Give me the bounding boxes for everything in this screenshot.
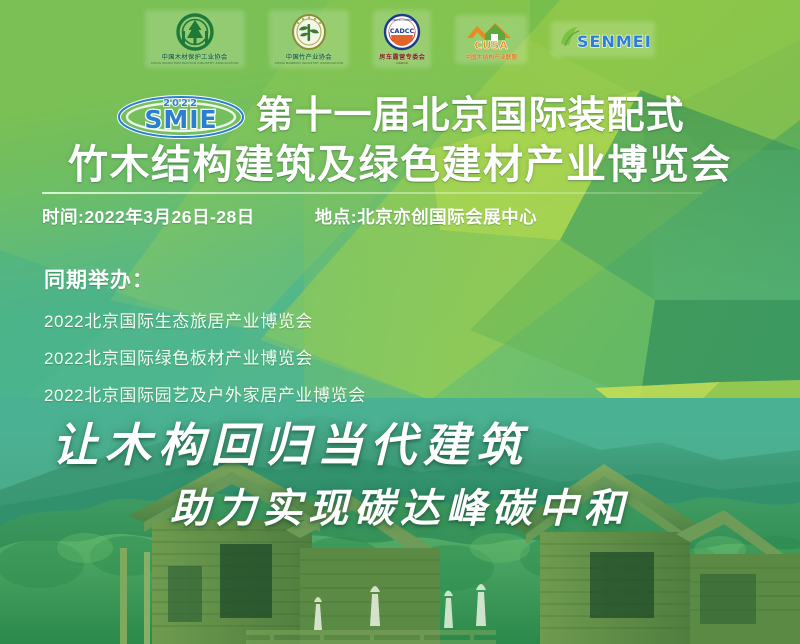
- logo-label-cn: 中国竹产业协会: [286, 52, 332, 61]
- concurrent-event-item: 2022北京国际园艺及户外家居产业博览会: [44, 381, 366, 406]
- exhibition-poster: 中国木材保护工业协会 CHINA WOOD PROTECTION INDUSTR…: [0, 0, 800, 644]
- event-venue: 地点:北京亦创国际会展中心: [315, 204, 537, 229]
- svg-text:SMIE: SMIE: [145, 105, 218, 134]
- page-title-line1: 第十一届北京国际装配式: [255, 96, 684, 136]
- logo-label-en: CHINA BAMBOO INDUSTRY ASSOCIATION: [275, 61, 344, 65]
- logo-label-cn: 中国木材保护工业协会: [162, 52, 228, 61]
- logo-label-en: CADCC: [396, 61, 408, 65]
- svg-text:CHINA RV CAMPING: CHINA RV CAMPING: [391, 19, 415, 22]
- logo-china-wood-protection-industry-association: 中国木材保护工业协会 CHINA WOOD PROTECTION INDUSTR…: [151, 13, 239, 65]
- cusa-house-icon: CUSA: [461, 18, 521, 52]
- poster-slogan-block: 让木构回归当代建筑 助力实现碳达峰碳中和: [0, 420, 800, 531]
- event-info-line: 时间:2022年3月26日-28日 地点:北京亦创国际会展中心: [42, 204, 537, 229]
- svg-text:CADCC: CADCC: [390, 27, 415, 35]
- logo-senmei: SENMEI SENMEI: [557, 24, 649, 54]
- cadcc-roundel-icon: CADCC CHINA RV CAMPING: [381, 13, 423, 51]
- concurrent-events-block: 同期举办： 2022北京国际生态旅居产业博览会 2022北京国际绿色板材产业博览…: [44, 264, 366, 418]
- logo-label-cn: 房车露营专委会: [379, 52, 425, 61]
- title-divider: [42, 192, 702, 194]
- senmei-leaf-wordmark-icon: SENMEI: [557, 24, 649, 54]
- svg-text:SENMEI: SENMEI: [577, 32, 649, 51]
- slogan-line1: 让木构回归当代建筑: [0, 420, 800, 471]
- svg-text:CUSA: CUSA: [475, 39, 509, 52]
- concurrent-event-item: 2022北京国际绿色板材产业博览会: [44, 344, 366, 369]
- concurrent-event-item: 2022北京国际生态旅居产业博览会: [44, 307, 366, 332]
- poster-title-block: 2022 SMIE 第十一届北京国际装配式 竹木结构建筑及绿色建材产业博览会: [0, 92, 800, 186]
- slogan-line2: 助力实现碳达峰碳中和: [0, 487, 800, 531]
- logo-label-en: CHINA WOOD PROTECTION INDUSTRY ASSOCIATI…: [151, 61, 239, 65]
- concurrent-events-heading: 同期举办：: [44, 264, 366, 294]
- pine-shield-icon: [173, 13, 217, 51]
- page-title-line2: 竹木结构建筑及绿色建材产业博览会: [0, 144, 800, 186]
- logo-china-bamboo-industry-association: 中国竹产业协会 CHINA BAMBOO INDUSTRY ASSOCIATIO…: [275, 13, 344, 65]
- logo-cadcc-rv-camping-committee: CADCC CHINA RV CAMPING 房车露营专委会 CADCC: [379, 13, 425, 65]
- event-date: 时间:2022年3月26日-28日: [42, 204, 255, 229]
- organizer-logo-strip: 中国木材保护工业协会 CHINA WOOD PROTECTION INDUSTR…: [0, 8, 800, 70]
- smie-event-logo-icon: 2022 SMIE: [115, 92, 247, 140]
- logo-label-cn: 中国木结构产业联盟: [465, 53, 517, 61]
- logo-cusa-wood-structure-alliance: CUSA 中国木结构产业联盟: [461, 18, 521, 61]
- title-first-row: 2022 SMIE 第十一届北京国际装配式: [0, 92, 800, 140]
- bamboo-roundel-icon: [289, 13, 329, 51]
